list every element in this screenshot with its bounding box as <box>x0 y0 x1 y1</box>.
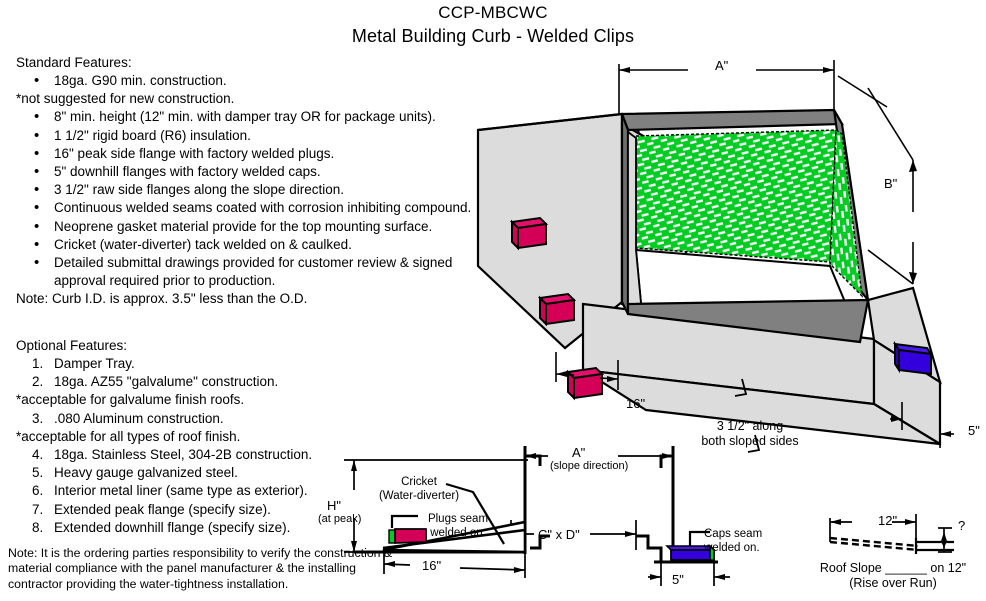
list-item-marker: 5. <box>32 464 43 482</box>
plugs-label-line2: welded on. <box>415 527 501 541</box>
list-item-marker: 2. <box>32 373 43 391</box>
list-item: *acceptable for galvalume finish roofs. <box>16 391 446 409</box>
list-item: •Neoprene gasket material provide for th… <box>16 218 476 236</box>
list-item-label: 1 1/2" rigid board (R6) insulation. <box>54 128 251 143</box>
list-item-marker: • <box>34 218 39 236</box>
optional-features-heading: Optional Features: <box>16 337 446 355</box>
section-label-5: 5" <box>672 572 684 587</box>
list-item-label: Neoprene gasket material provide for the… <box>54 219 432 234</box>
list-item-marker: 7. <box>32 501 43 519</box>
standard-features-heading: Standard Features: <box>16 54 476 72</box>
list-item-marker: 4. <box>32 446 43 464</box>
iso-label-5: 5" <box>968 423 980 438</box>
welded-plug-1 <box>512 218 546 248</box>
list-item-label: .080 Aluminum construction. <box>54 411 224 426</box>
page-title-code: CCP-MBCWC <box>0 2 986 24</box>
list-item-marker: • <box>34 127 39 145</box>
welded-plug-3 <box>568 368 602 398</box>
list-item: •Continuous welded seams coated with cor… <box>16 199 476 217</box>
list-item-marker: 1. <box>32 355 43 373</box>
list-item-label: 8" min. height (12" min. with damper tra… <box>54 109 436 124</box>
iso-label-16: 16" <box>626 396 645 411</box>
slope-label-12: 12" <box>878 513 897 528</box>
list-item-label: 16" peak side flange with factory welded… <box>54 146 334 161</box>
list-item-marker: • <box>34 181 39 199</box>
welded-cap-blue <box>895 344 931 374</box>
list-item-marker: 3. <box>32 410 43 428</box>
page-title-name: Metal Building Curb - Welded Clips <box>0 24 986 48</box>
list-item: Note: Curb I.D. is approx. 3.5" less tha… <box>16 290 476 308</box>
list-item-label: 18ga. Stainless Steel, 304-2B constructi… <box>54 447 312 462</box>
dim-line-12 <box>830 514 916 542</box>
list-item-label: Damper Tray. <box>54 356 135 371</box>
isometric-curb-drawing <box>470 52 986 452</box>
roof-slope-label: Roof Slope ______ on 12" (Rise over Run) <box>800 561 986 590</box>
gasket-rail-back <box>622 110 842 130</box>
roof-slope-label-line2: (Rise over Run) <box>800 576 986 591</box>
insulation-back-face <box>636 130 836 262</box>
title-block: CCP-MBCWC Metal Building Curb - Welded C… <box>0 2 986 48</box>
iso-label-b: B" <box>884 176 897 191</box>
list-item: •18ga. G90 min. construction. <box>16 72 476 90</box>
list-item: 1.Damper Tray. <box>16 355 446 373</box>
list-item: 2.18ga. AZ55 "galvalume" construction. <box>16 373 446 391</box>
section-label-a: A" <box>572 445 585 460</box>
section-label-h-sub: (at peak) <box>318 513 361 526</box>
cricket-label-line1: Cricket <box>374 476 464 490</box>
list-item-label: Extended downhill flange (specify size). <box>54 520 290 535</box>
standard-features-list: •18ga. G90 min. construction.*not sugges… <box>16 72 476 309</box>
list-item-label: Detailed submittal drawings provided for… <box>54 255 452 288</box>
dim-line-5-section <box>648 562 730 586</box>
list-item-marker: 6. <box>32 482 43 500</box>
list-item: •Detailed submittal drawings provided fo… <box>16 254 476 290</box>
cricket-label-line2: (Water-diverter) <box>374 490 464 504</box>
list-item-marker: 8. <box>32 519 43 537</box>
drawing-page: CCP-MBCWC Metal Building Curb - Welded C… <box>0 0 986 601</box>
list-item: 3..080 Aluminum construction. <box>16 410 446 428</box>
list-item-marker: • <box>34 108 39 126</box>
list-item-label: 18ga. G90 min. construction. <box>54 73 227 88</box>
list-item: •3 1/2" raw side flanges along the slope… <box>16 181 476 199</box>
rise-dimension-bracket <box>938 528 952 552</box>
section-label-cd: C" x D" <box>538 527 580 542</box>
dim-line-16-section <box>384 552 525 578</box>
list-item-label: Continuous welded seams coated with corr… <box>54 200 471 215</box>
list-item: •1 1/2" rigid board (R6) insulation. <box>16 127 476 145</box>
list-item-label: Heavy gauge galvanized steel. <box>54 465 238 480</box>
list-item-marker: • <box>34 72 39 90</box>
cross-section-drawing <box>318 444 778 601</box>
caps-label-line1: Caps seam <box>704 528 782 542</box>
plugs-label: Plugs seam welded on. <box>415 513 501 540</box>
list-item-marker: • <box>34 163 39 181</box>
slope-label-question: ? <box>958 518 965 533</box>
list-item-marker: • <box>34 145 39 163</box>
section-label-16: 16" <box>422 558 441 573</box>
standard-features-block: Standard Features: •18ga. G90 min. const… <box>16 54 476 309</box>
list-item-label: 5" downhill flanges with factory welded … <box>54 164 321 179</box>
list-item: •16" peak side flange with factory welde… <box>16 145 476 163</box>
list-item-label: 18ga. AZ55 "galvalume" construction. <box>54 374 278 389</box>
plugs-label-line1: Plugs seam <box>415 513 501 527</box>
list-item-label: Cricket (water-diverter) tack welded on … <box>54 237 352 252</box>
list-item: •5" downhill flanges with factory welded… <box>16 163 476 181</box>
caps-label: Caps seam welded on. <box>704 528 782 555</box>
list-item-marker: • <box>34 236 39 254</box>
section-label-a-sub: (slope direction) <box>550 460 628 473</box>
caps-label-line2: welded on. <box>704 542 782 556</box>
list-item-label: Extended peak flange (specify size). <box>54 502 271 517</box>
list-item-marker: • <box>34 199 39 217</box>
welded-plug-2 <box>540 294 574 324</box>
list-item: •Cricket (water-diverter) tack welded on… <box>16 236 476 254</box>
gasket-rail-left <box>622 114 628 314</box>
list-item-marker: • <box>34 254 39 272</box>
list-item: *not suggested for new construction. <box>16 90 476 108</box>
section-label-h: H" <box>327 498 341 513</box>
iso-label-a: A" <box>715 58 728 73</box>
roof-slope-dashed-line <box>830 538 918 550</box>
roof-slope-detail-drawing <box>820 508 986 568</box>
list-item-label: Interior metal liner (same type as exter… <box>54 483 308 498</box>
list-item: •8" min. height (12" min. with damper tr… <box>16 108 476 126</box>
roof-slope-label-line1: Roof Slope ______ on 12" <box>800 561 986 576</box>
iso-note-sloped-sides-line1: 3 1/2" along <box>690 419 810 434</box>
cricket-label: Cricket (Water-diverter) <box>374 476 464 503</box>
list-item-label: 3 1/2" raw side flanges along the slope … <box>54 182 344 197</box>
